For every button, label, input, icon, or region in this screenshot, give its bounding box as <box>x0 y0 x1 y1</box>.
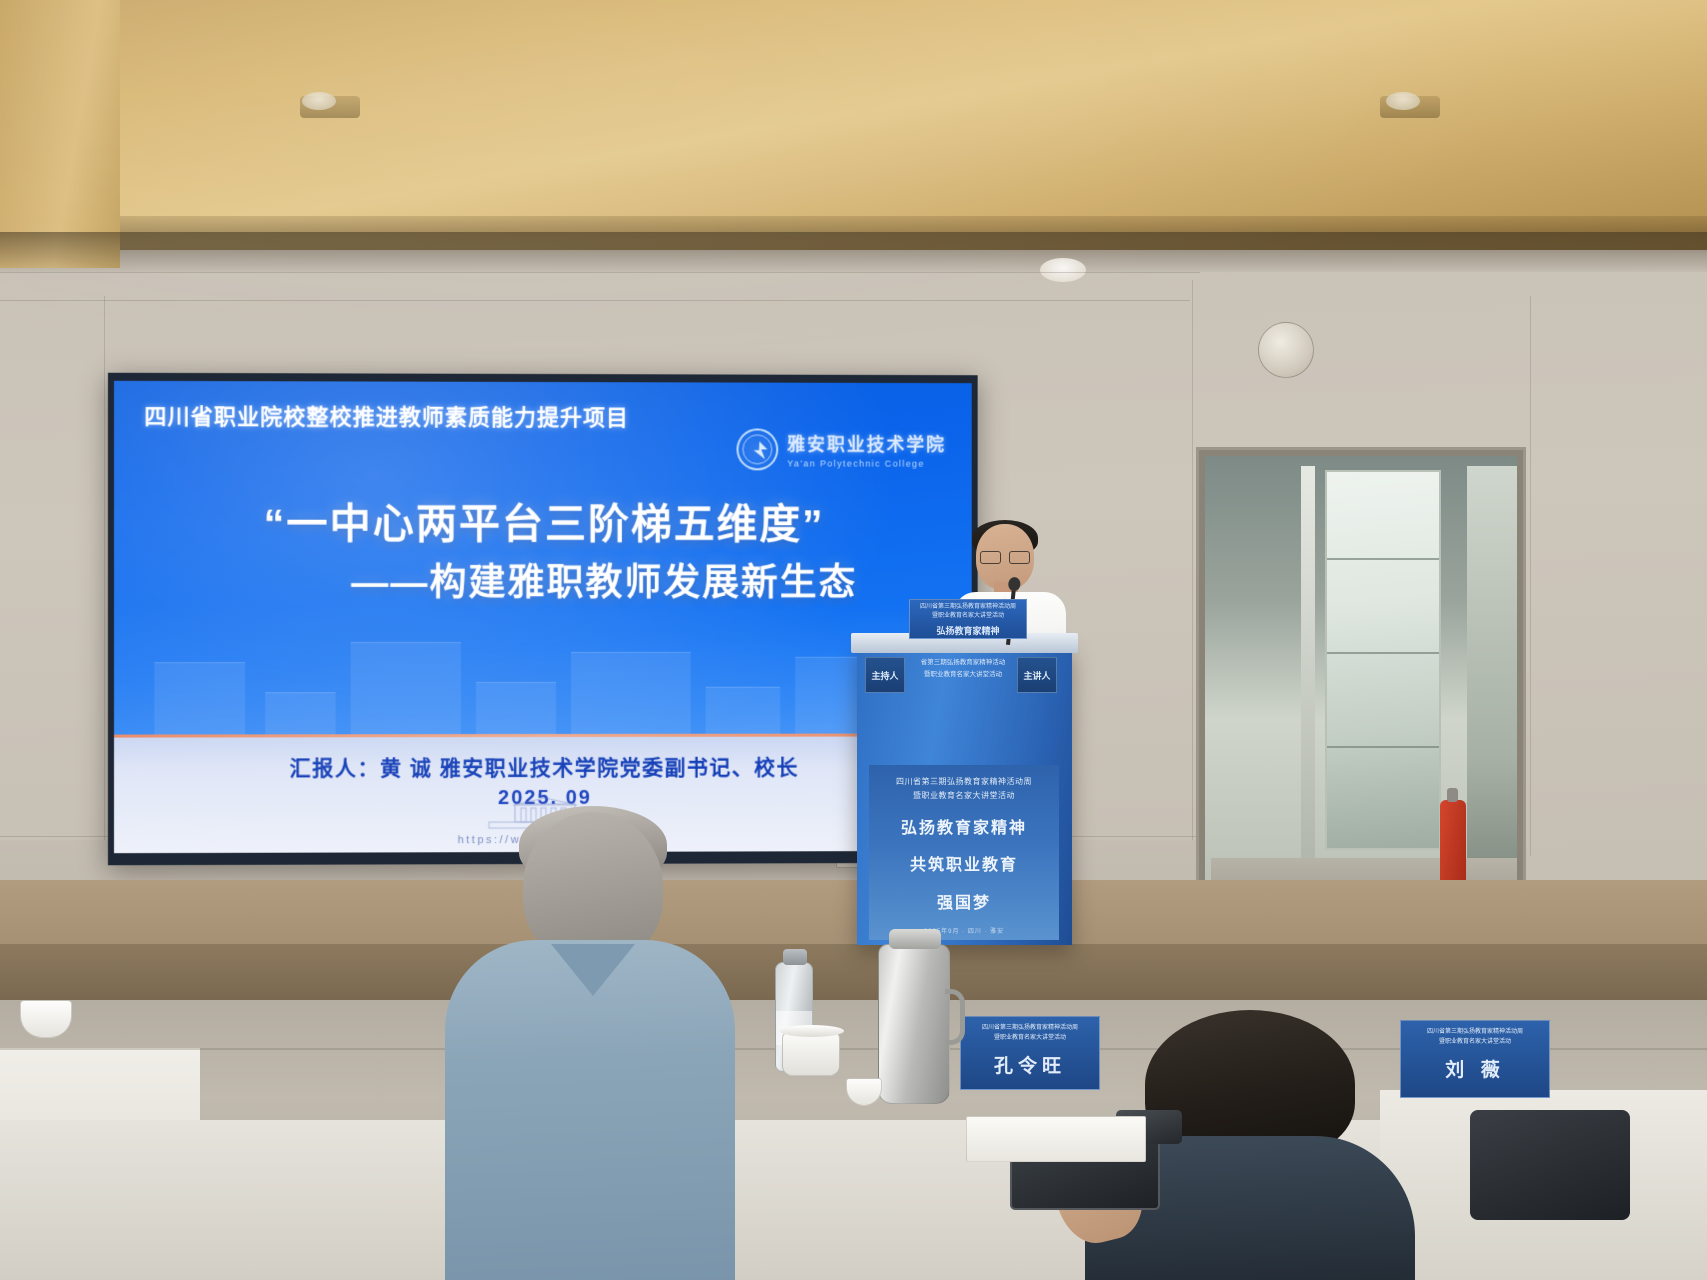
podium-placard-line2: 暨职业教育名家大讲堂活动 <box>910 612 1026 621</box>
ceiling-shadow-strip <box>0 232 1707 272</box>
far-wall-through-door <box>1467 466 1517 886</box>
slide-main-title: “一中心两平台三阶梯五维度” <box>114 499 972 548</box>
ceiling-downlight <box>1040 258 1086 282</box>
eyeglasses-icon <box>980 551 1030 562</box>
ceiling-left-column <box>0 0 120 268</box>
banner-calligraphy-3: 强国梦 <box>869 891 1059 914</box>
nameplate-name: 孔令旺 <box>961 1051 1099 1078</box>
podium-event-subtitle: 省第三期弘扬教育家精神活动 暨职业教育名家大讲堂活动 <box>911 657 1015 680</box>
podium-label-host: 主持人 <box>865 657 905 693</box>
nameplate-line2: 暨职业教育名家大讲堂活动 <box>1401 1037 1549 1047</box>
door-window <box>1325 470 1441 850</box>
door-opening <box>1205 456 1517 936</box>
ceiling-speaker <box>1258 322 1314 378</box>
fire-extinguisher <box>1440 800 1466 886</box>
wall-seam <box>0 300 1190 301</box>
table-nameplate: 四川省第三期弘扬教育家精神活动周 暨职业教育名家大讲堂活动 刘 薇 <box>1400 1020 1550 1098</box>
presentation-slide[interactable]: 四川省职业院校整校推进教师素质能力提升项目 雅安职业技术学院 Ya'an Pol… <box>114 381 972 853</box>
podium-mid-line2: 暨职业教育名家大讲堂活动 <box>911 669 1015 681</box>
banner-calligraphy-2: 共筑职业教育 <box>869 853 1059 876</box>
slide-title-block: “一中心两平台三阶梯五维度” ——构建雅职教师发展新生态 <box>114 499 972 606</box>
stage-front-edge <box>0 944 1707 1000</box>
laptop-bag <box>1470 1110 1630 1220</box>
ceiling-light <box>1386 92 1420 110</box>
presentation-room-scene: 四川省职业院校整校推进教师素质能力提升项目 雅安职业技术学院 Ya'an Pol… <box>0 0 1707 1280</box>
college-seal-icon <box>736 428 778 470</box>
door-post <box>1301 466 1315 886</box>
nameplate-name: 刘 薇 <box>1401 1055 1549 1082</box>
nameplate-line1: 四川省第三期弘扬教育家精神活动周 <box>1401 1027 1549 1037</box>
podium-placard-name: 弘扬教育家精神 <box>910 626 1026 640</box>
slide-header-title: 四川省职业院校整校推进教师素质能力提升项目 <box>144 399 629 432</box>
slide-header: 四川省职业院校整校推进教师素质能力提升项目 雅安职业技术学院 Ya'an Pol… <box>144 399 952 471</box>
podium-desk-placard: 四川省第三期弘扬教育家精神活动周 暨职业教育名家大讲堂活动 弘扬教育家精神 <box>909 599 1027 639</box>
podium-label-presenter: 主讲人 <box>1017 657 1057 693</box>
banner-line-2: 暨职业教育名家大讲堂活动 <box>869 789 1059 803</box>
table-nameplate: 四川省第三期弘扬教育家精神活动周 暨职业教育名家大讲堂活动 孔令旺 <box>960 1016 1100 1090</box>
wall-seam-vertical <box>1192 280 1193 840</box>
nameplate-line2: 暨职业教育名家大讲堂活动 <box>961 1033 1099 1043</box>
slide-subtitle: ——构建雅职教师发展新生态 <box>114 552 972 606</box>
wood-ceiling-panel <box>0 0 1707 250</box>
doorway[interactable] <box>1196 447 1526 945</box>
slide-accent-rule <box>114 733 972 737</box>
podium-event-banner: 四川省第三期弘扬教育家精神活动周 暨职业教育名家大讲堂活动 弘扬教育家精神 共筑… <box>869 765 1059 940</box>
podium-placard-line1: 四川省第三期弘扬教育家精神活动周 <box>910 603 1026 612</box>
speaking-podium: 四川省第三期弘扬教育家精神活动周 暨职业教育名家大讲堂活动 弘扬教育家精神 主持… <box>857 645 1072 945</box>
banner-calligraphy-1: 弘扬教育家精神 <box>869 816 1059 839</box>
document-sheet <box>966 1116 1146 1162</box>
vacuum-flask <box>878 944 950 1104</box>
audience-member-front-left <box>445 812 735 1280</box>
wall-seam <box>0 272 1200 273</box>
wall-seam-vertical <box>104 296 105 844</box>
college-name-en: Ya'an Polytechnic College <box>787 458 946 468</box>
wall-seam-vertical <box>1530 296 1531 856</box>
banner-line-1: 四川省第三期弘扬教育家精神活动周 <box>869 775 1059 789</box>
ceiling-light <box>302 92 336 110</box>
podium-mid-line1: 省第三期弘扬教育家精神活动 <box>911 657 1015 669</box>
paper-cup <box>782 1032 840 1076</box>
slide-presenter-line: 汇报人：黄 诚 雅安职业技术学院党委副书记、校长 <box>114 751 972 782</box>
nameplate-line1: 四川省第三期弘扬教育家精神活动周 <box>961 1023 1099 1033</box>
college-logo: 雅安职业技术学院 Ya'an Polytechnic College <box>736 428 945 470</box>
led-display-bezel: 四川省职业院校整校推进教师素质能力提升项目 雅安职业技术学院 Ya'an Pol… <box>108 373 978 865</box>
tea-cup <box>20 1000 72 1038</box>
college-name-cn: 雅安职业技术学院 <box>787 431 946 457</box>
